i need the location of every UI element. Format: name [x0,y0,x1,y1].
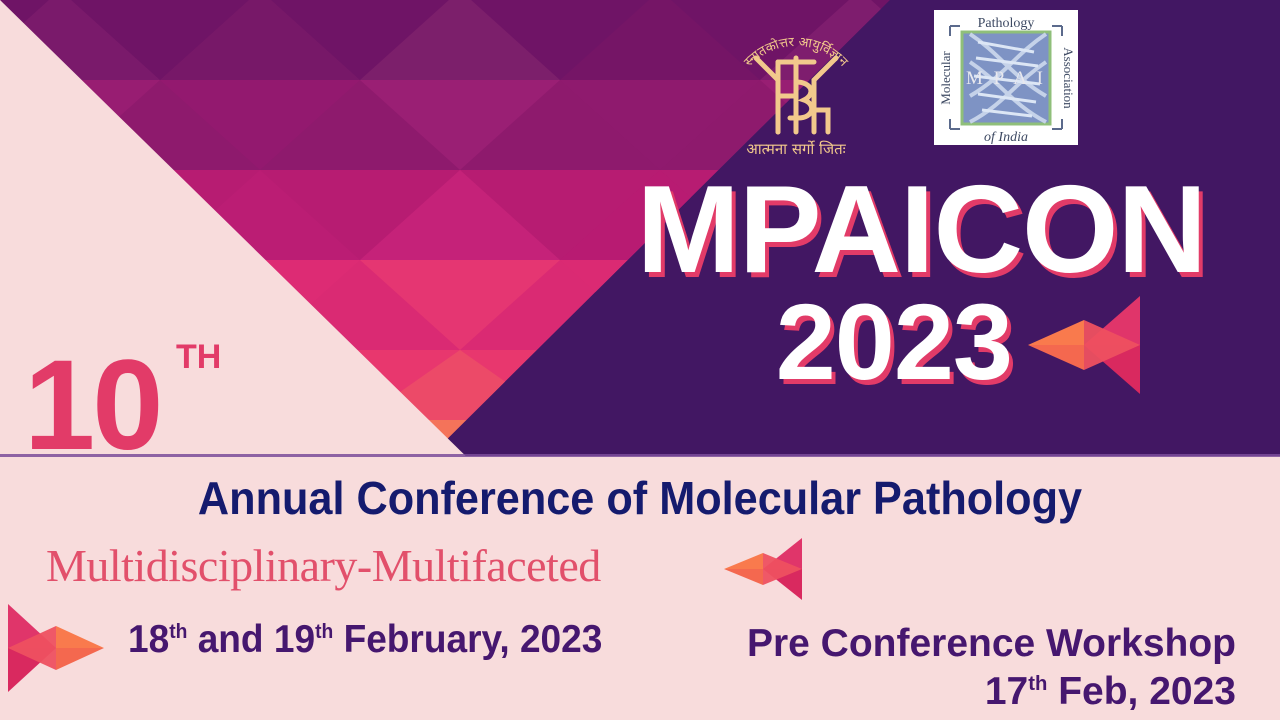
sgpgi-logo: स्नातकोत्तर आयुर्विज्ञान आत्मना सर्गो जि… [716,10,876,158]
ordinal-block: 10 TH [24,330,254,470]
date-day2-suffix: th [315,621,333,643]
conference-banner: स्नातकोत्तर आयुर्विज्ञान आत्मना सर्गो जि… [0,0,1280,720]
mpai-center-letters: M P A I [966,68,1046,89]
page-title: MPAICON [0,168,1206,292]
date-day1: 18 [128,618,169,661]
sgpgi-motto-text: आत्मना सर्गो जितः [746,140,846,158]
mpai-logo: Pathology of India Molecular Association… [934,10,1078,145]
left-triangle-icon [1028,296,1140,394]
conference-headline: Annual Conference of Molecular Pathology [38,474,1241,522]
workshop-day: 17 [985,670,1028,713]
ordinal-number: 10 [24,342,160,470]
sgpgi-emblem-icon: स्नातकोत्तर आयुर्विज्ञान आत्मना सर्गो जि… [716,10,876,158]
workshop-block: Pre Conference Workshop 17th Feb, 2023 [747,620,1236,715]
conference-tagline: Multidisciplinary-Multifaceted [46,537,601,595]
date-day1-suffix: th [169,621,187,643]
date-day2: 19 [274,618,315,661]
date-conjunction: and [187,618,273,661]
workshop-title: Pre Conference Workshop [747,620,1236,668]
mpai-top-word: Pathology [978,16,1035,31]
logo-row: स्नातकोत्तर आयुर्विज्ञान आत्मना सर्गो जि… [716,10,1096,160]
mpai-emblem-icon: Pathology of India Molecular Association… [934,10,1078,145]
left-triangle-icon [724,538,802,600]
right-triangle-icon [8,604,104,692]
date-month-year: February, 2023 [333,618,602,661]
tagline-row: Multidisciplinary-Multifaceted [0,537,1280,599]
mpai-right-word: Association [1061,47,1076,109]
conference-dates: 18th and 19th February, 2023 [128,620,602,659]
workshop-date: 17th Feb, 2023 [747,668,1236,716]
mpai-left-word: Molecular [938,51,953,105]
workshop-month-year: Feb, 2023 [1047,670,1236,713]
workshop-day-suffix: th [1028,673,1047,695]
ordinal-suffix: TH [176,340,221,374]
mpai-bottom-word: of India [984,130,1028,145]
